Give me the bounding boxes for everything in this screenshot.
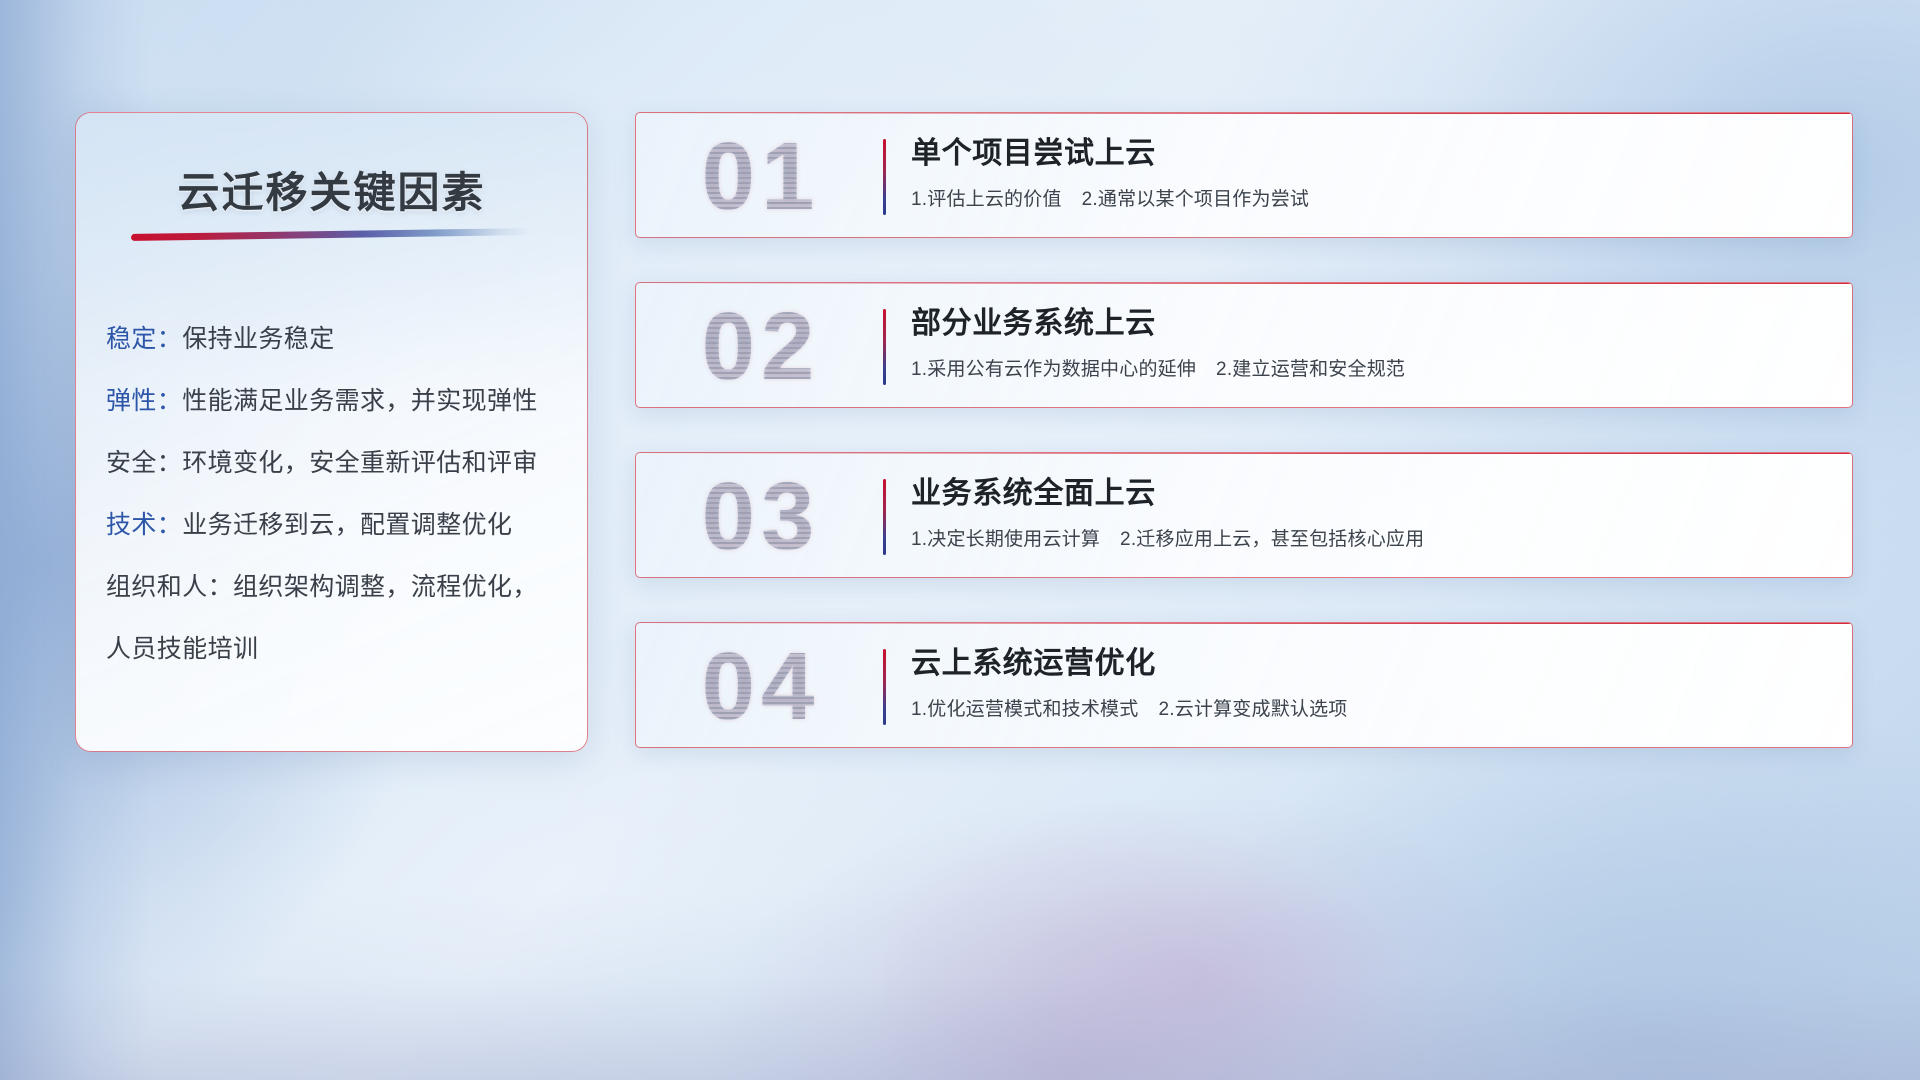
stage-card-body: 云上系统运营优化1.优化运营模式和技术模式2.云计算变成默认选项 [911,643,1828,723]
key-factor-row: 安全：环境变化，安全重新评估和评审 [106,432,569,494]
key-factor-value: 环境变化，安全重新评估和评审 [182,449,538,477]
stage-accent-divider [883,479,886,555]
stage-point: 2.迁移应用上云，甚至包括核心应用 [1120,529,1424,550]
stage-number: 01 [666,117,856,237]
stage-description: 1.优化运营模式和技术模式2.云计算变成默认选项 [911,697,1828,723]
key-factor-row: 稳定：保持业务稳定 [106,308,569,370]
key-factor-value: 人员技能培训 [106,635,258,663]
stage-point: 1.评估上云的价值 [911,189,1062,210]
stage-point: 1.采用公有云作为数据中心的延伸 [911,359,1196,380]
stage-card[interactable]: 0404云上系统运营优化1.优化运营模式和技术模式2.云计算变成默认选项 [635,622,1853,748]
stage-number: 03 [666,457,856,577]
stage-card[interactable]: 0303业务系统全面上云1.决定长期使用云计算2.迁移应用上云，甚至包括核心应用 [635,452,1853,578]
stage-card-body: 业务系统全面上云1.决定长期使用云计算2.迁移应用上云，甚至包括核心应用 [911,473,1828,553]
stage-description: 1.评估上云的价值2.通常以某个项目作为尝试 [911,187,1828,213]
key-factor-label: 弹性： [106,387,182,415]
stage-accent-divider [883,139,886,215]
stage-card-body: 部分业务系统上云1.采用公有云作为数据中心的延伸2.建立运营和安全规范 [911,303,1828,383]
stage-card[interactable]: 0202部分业务系统上云1.采用公有云作为数据中心的延伸2.建立运营和安全规范 [635,282,1853,408]
key-factor-label: 安全： [106,449,182,477]
slide-stage: 云迁移关键因素 稳定：保持业务稳定弹性：性能满足业务需求，并实现弹性安全：环境变… [0,0,1920,1080]
cloud-migration-stages: 0101单个项目尝试上云1.评估上云的价值2.通常以某个项目作为尝试0202部分… [635,112,1853,792]
stage-title: 业务系统全面上云 [911,473,1828,515]
stage-point: 2.建立运营和安全规范 [1216,359,1405,380]
stage-card[interactable]: 0101单个项目尝试上云1.评估上云的价值2.通常以某个项目作为尝试 [635,112,1853,238]
stage-point: 1.优化运营模式和技术模式 [911,699,1138,720]
key-factor-value: 组织架构调整，流程优化， [233,573,538,601]
key-factor-row: 弹性：性能满足业务需求，并实现弹性 [106,370,569,432]
stage-number: 02 [666,287,856,407]
stage-title: 部分业务系统上云 [911,303,1828,345]
stage-title: 云上系统运营优化 [911,643,1828,685]
stage-description: 1.决定长期使用云计算2.迁移应用上云，甚至包括核心应用 [911,527,1828,553]
page-title: 云迁移关键因素 [76,159,587,220]
key-factors-panel: 云迁移关键因素 稳定：保持业务稳定弹性：性能满足业务需求，并实现弹性安全：环境变… [75,112,588,752]
title-underline-rule [131,228,531,241]
stage-title: 单个项目尝试上云 [911,133,1828,175]
key-factor-value: 保持业务稳定 [182,325,334,353]
stage-description: 1.采用公有云作为数据中心的延伸2.建立运营和安全规范 [911,357,1828,383]
stage-card-body: 单个项目尝试上云1.评估上云的价值2.通常以某个项目作为尝试 [911,133,1828,213]
stage-accent-divider [883,309,886,385]
stage-point: 2.云计算变成默认选项 [1158,699,1347,720]
key-factor-row: 组织和人：组织架构调整，流程优化， [106,556,569,618]
key-factor-label: 组织和人： [106,573,233,601]
key-factor-label: 技术： [106,511,182,539]
key-factor-row: 人员技能培训 [106,618,569,680]
key-factor-value: 性能满足业务需求，并实现弹性 [182,387,538,415]
key-factor-label: 稳定： [106,325,182,353]
stage-point: 2.通常以某个项目作为尝试 [1082,189,1309,210]
key-factor-value: 业务迁移到云，配置调整优化 [182,511,512,539]
stage-accent-divider [883,649,886,725]
stage-point: 1.决定长期使用云计算 [911,529,1100,550]
key-factor-row: 技术：业务迁移到云，配置调整优化 [106,494,569,556]
key-factors-list: 稳定：保持业务稳定弹性：性能满足业务需求，并实现弹性安全：环境变化，安全重新评估… [106,308,569,680]
stage-number: 04 [666,627,856,747]
